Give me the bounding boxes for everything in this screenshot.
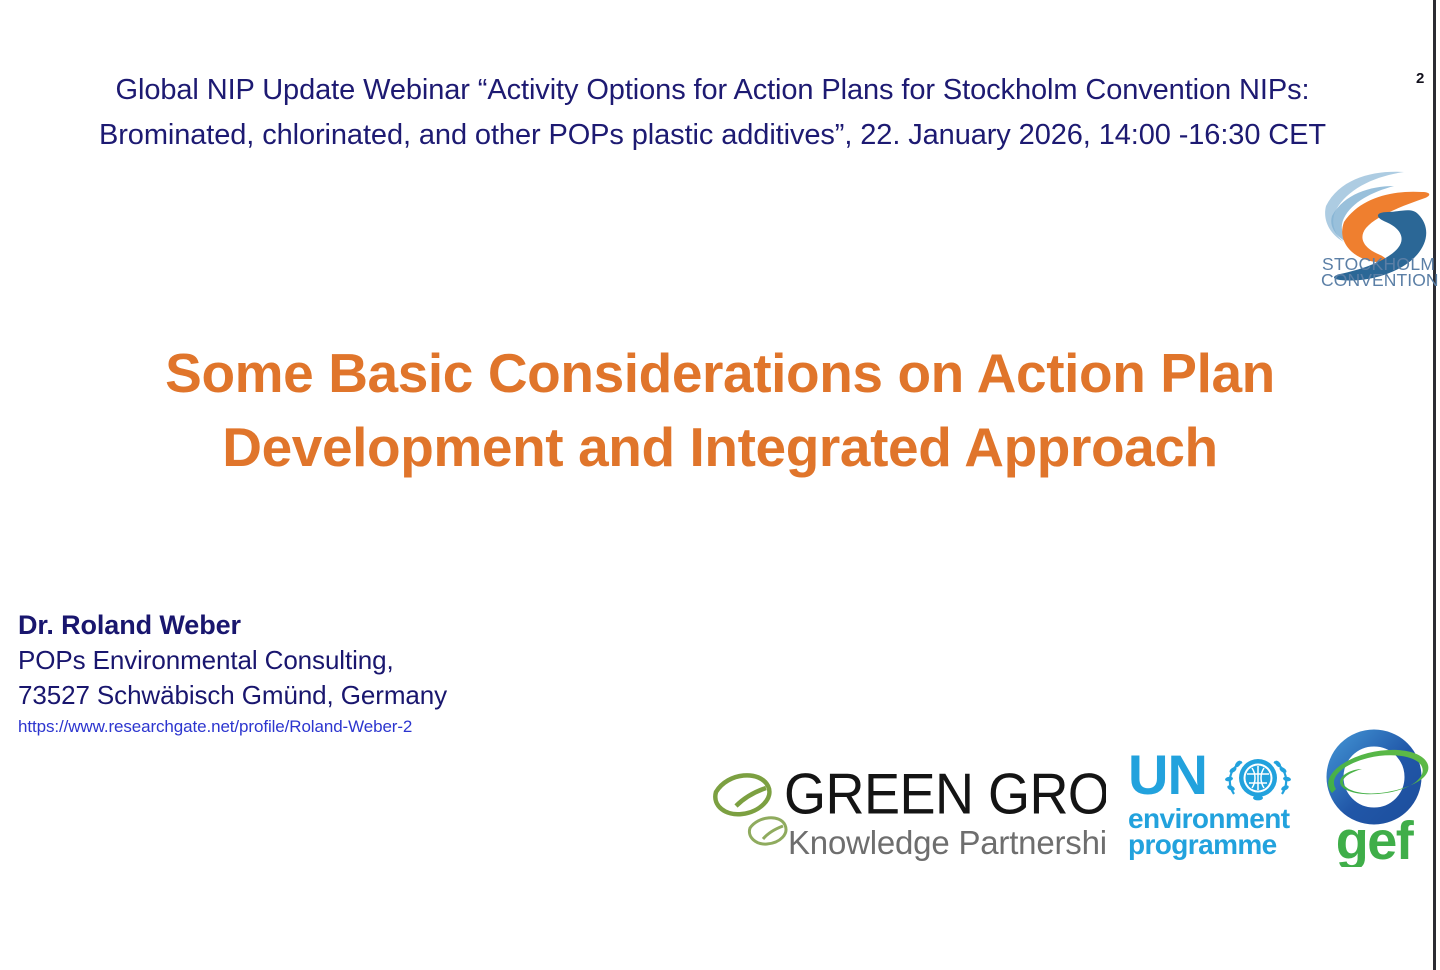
slide-header-line-2: Brominated, chlorinated, and other POPs …: [0, 113, 1425, 158]
slide-title-line-2: Development and Integrated Approach: [55, 410, 1385, 484]
slide-number: 2: [1416, 70, 1424, 87]
gef-logo-text: gef: [1336, 811, 1415, 867]
presentation-slide: Global NIP Update Webinar “Activity Opti…: [0, 0, 1440, 970]
author-name: Dr. Roland Weber: [18, 608, 718, 643]
unep-logo-un-text: UN: [1128, 748, 1207, 806]
un-environment-programme-logo: UN: [1126, 748, 1296, 860]
green-growth-logo-subtitle: Knowledge Partnership: [788, 824, 1106, 861]
stockholm-convention-logo: STOCKHOLM CONVENTION: [1318, 168, 1440, 294]
green-growth-knowledge-partnership-logo: GREEN GROWTH Knowledge Partnership: [706, 752, 1106, 864]
green-growth-logo-title: GREEN GROWTH: [784, 762, 1106, 826]
slide-header-line-1: Global NIP Update Webinar “Activity Opti…: [0, 68, 1425, 113]
author-block: Dr. Roland Weber POPs Environmental Cons…: [18, 608, 718, 740]
author-organization: POPs Environmental Consulting,: [18, 643, 718, 678]
author-profile-link[interactable]: https://www.researchgate.net/profile/Rol…: [18, 714, 412, 740]
slide-title: Some Basic Considerations on Action Plan…: [55, 336, 1385, 484]
stockholm-convention-logo-text-line-2: CONVENTION: [1321, 270, 1439, 290]
unep-logo-programme-text: programme: [1128, 829, 1277, 860]
gef-logo: gef: [1316, 727, 1438, 867]
author-city: 73527 Schwäbisch Gmünd, Germany: [18, 678, 718, 713]
slide-title-line-1: Some Basic Considerations on Action Plan: [55, 336, 1385, 410]
un-emblem-icon: [1225, 759, 1292, 800]
slide-header: Global NIP Update Webinar “Activity Opti…: [0, 68, 1425, 158]
